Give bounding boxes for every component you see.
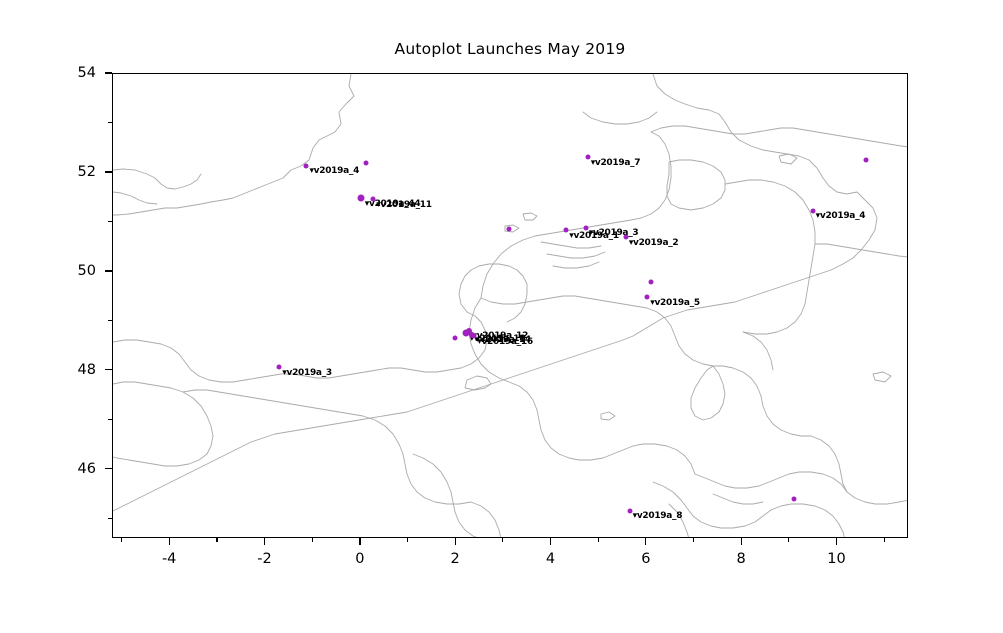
y-axis-tick (105, 72, 112, 73)
y-axis-minor-tick (108, 221, 112, 222)
x-axis-tick-label: 8 (737, 551, 746, 567)
x-axis-tick (359, 538, 360, 545)
x-axis-tick-label: -4 (162, 551, 176, 567)
x-axis-tick-label: 2 (451, 551, 460, 567)
x-axis-minor-tick (598, 538, 599, 542)
y-axis-minor-tick (108, 518, 112, 519)
x-axis-minor-tick (502, 538, 503, 542)
x-axis-minor-tick (407, 538, 408, 542)
y-axis-tick (105, 468, 112, 469)
x-axis-tick-label: -2 (257, 551, 271, 567)
y-axis-tick-label: 46 (0, 461, 96, 477)
y-axis-tick-label: 52 (0, 164, 96, 180)
x-axis-tick (645, 538, 646, 545)
y-axis-tick-label: 48 (0, 362, 96, 378)
y-axis-minor-tick (108, 122, 112, 123)
y-axis-tick (105, 171, 112, 172)
x-axis-tick (550, 538, 551, 545)
x-axis-minor-tick (788, 538, 789, 542)
map-axes[interactable] (112, 73, 908, 538)
y-axis-tick (105, 270, 112, 271)
x-axis-tick (836, 538, 837, 545)
map-geography (113, 74, 908, 538)
x-axis-tick-label: 0 (355, 551, 364, 567)
y-axis-tick-label: 50 (0, 263, 96, 279)
y-axis-tick-label: 54 (0, 65, 96, 81)
y-axis-minor-tick (108, 419, 112, 420)
x-axis-tick-label: 4 (546, 551, 555, 567)
page-title: Autoplot Launches May 2019 (112, 40, 908, 58)
y-axis-tick (105, 369, 112, 370)
x-axis-minor-tick (121, 538, 122, 542)
x-axis-tick (455, 538, 456, 545)
x-axis-minor-tick (312, 538, 313, 542)
x-axis-tick (169, 538, 170, 545)
x-axis-tick-label: 6 (641, 551, 650, 567)
x-axis-minor-tick (693, 538, 694, 542)
y-axis-minor-tick (108, 320, 112, 321)
x-axis-minor-tick (216, 538, 217, 542)
x-axis-tick-label: 10 (827, 551, 845, 567)
figure-canvas: Autoplot Launches May 2019 (0, 0, 1003, 633)
x-axis-tick (264, 538, 265, 545)
x-axis-minor-tick (884, 538, 885, 542)
x-axis-tick (741, 538, 742, 545)
